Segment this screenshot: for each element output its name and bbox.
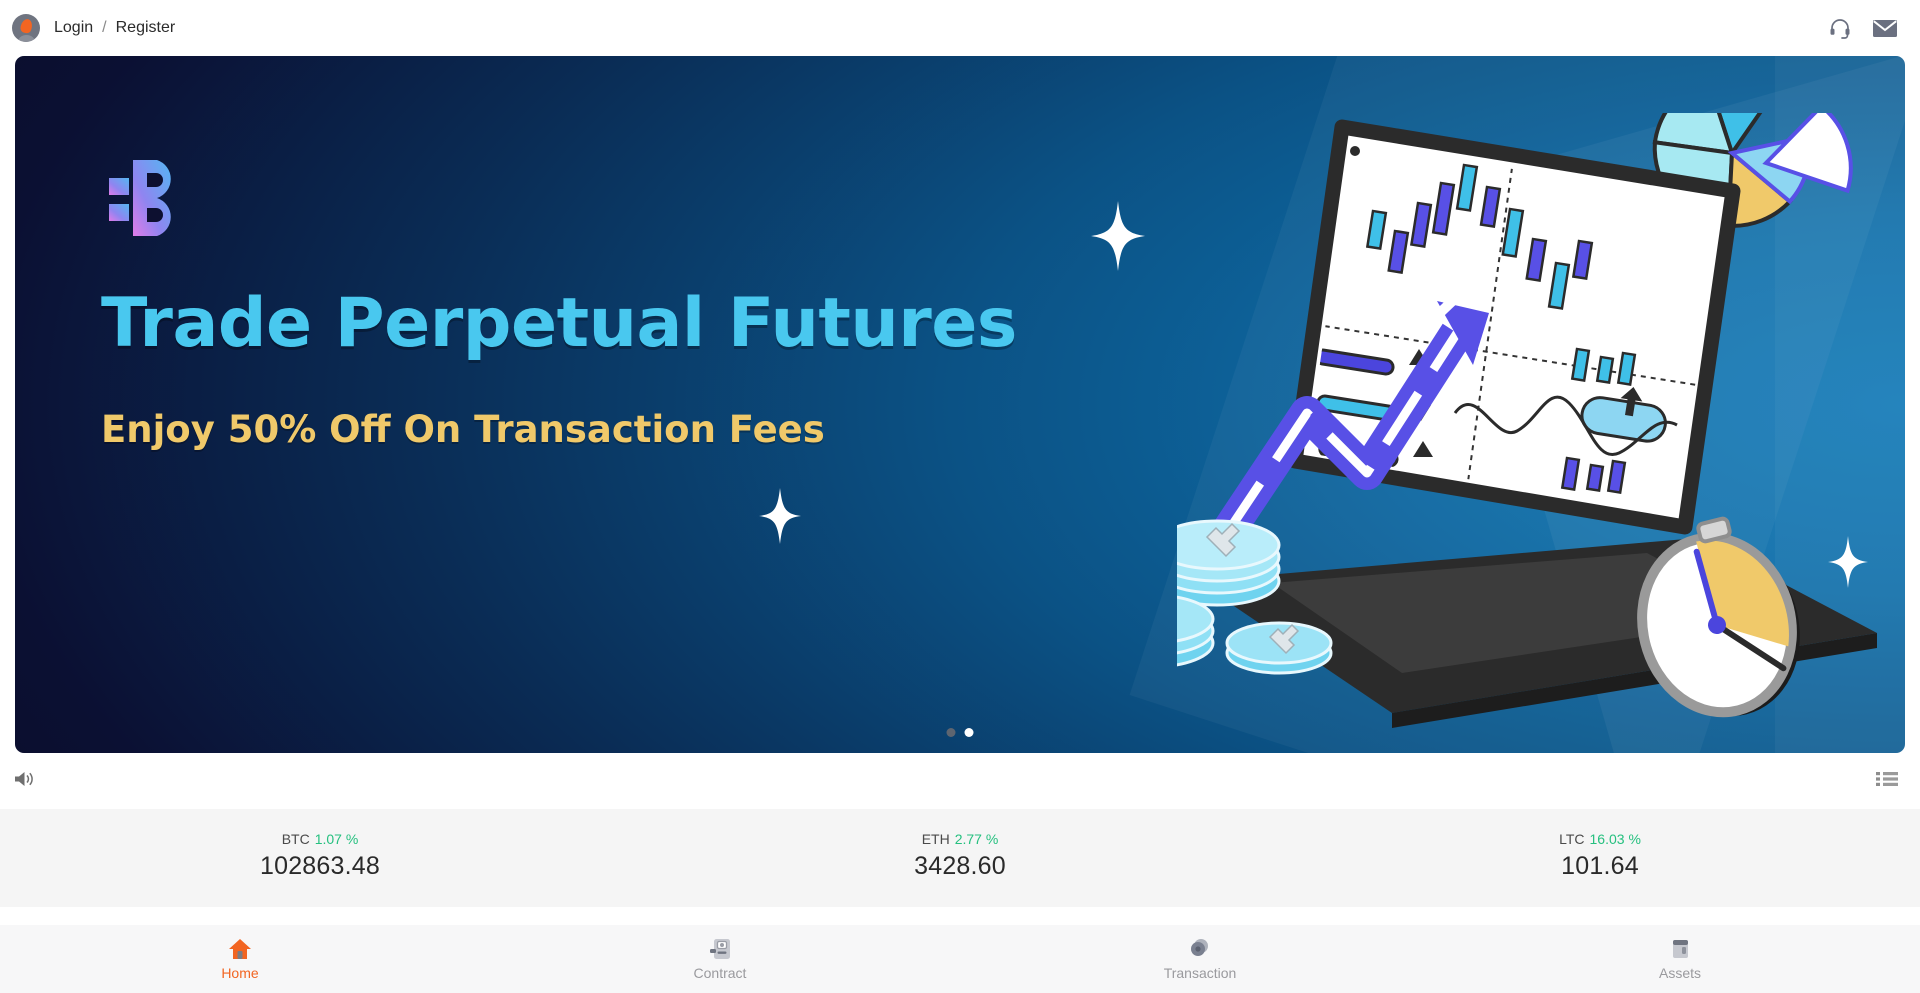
notice-bar [0, 753, 1920, 809]
speaker-icon[interactable] [14, 770, 34, 793]
nav-item-contract[interactable]: Contract [480, 938, 960, 981]
sparkle-icon [1091, 201, 1145, 276]
sparkle-icon [759, 488, 801, 549]
transaction-icon [1188, 938, 1212, 960]
ticker-symbol: LTC [1559, 831, 1584, 847]
ticker-strip: BTC1.07 % 102863.48 ETH2.77 % 3428.60 LT… [0, 809, 1920, 907]
nav-item-transaction[interactable]: Transaction [960, 938, 1440, 981]
nav-label-home: Home [221, 965, 258, 981]
carousel-dots[interactable] [947, 728, 974, 737]
bottom-navigation: Home Contract Transaction [0, 925, 1920, 993]
home-icon [228, 938, 252, 960]
brand-b-logo-icon [103, 156, 189, 240]
assets-icon [1668, 938, 1692, 960]
ticker-symbol: BTC [282, 831, 310, 847]
banner-subheadline: Enjoy 50% Off On Transaction Fees [101, 408, 825, 451]
ticker-change: 1.07 % [315, 831, 359, 847]
headset-icon[interactable] [1828, 16, 1852, 40]
carousel-dot-2[interactable] [965, 728, 974, 737]
contract-icon [708, 938, 732, 960]
banner-illustration [1177, 113, 1897, 753]
topbar-icons [1828, 16, 1898, 40]
nav-label-contract: Contract [694, 965, 747, 981]
auth-separator: / [102, 19, 106, 37]
banner-carousel[interactable]: Trade Perpetual Futures Enjoy 50% Off On… [0, 56, 1920, 753]
ticker-item[interactable]: ETH2.77 % 3428.60 [640, 831, 1280, 881]
ticker-price: 101.64 [1280, 852, 1920, 881]
ticker-head: ETH2.77 % [640, 831, 1280, 847]
nav-label-transaction: Transaction [1164, 965, 1237, 981]
list-icon[interactable] [1876, 771, 1898, 792]
ticker-item[interactable]: BTC1.07 % 102863.48 [0, 831, 640, 881]
nav-item-home[interactable]: Home [0, 938, 480, 981]
envelope-icon[interactable] [1872, 17, 1898, 39]
nav-label-assets: Assets [1659, 965, 1701, 981]
ticker-price: 102863.48 [0, 852, 640, 881]
ticker-change: 2.77 % [955, 831, 999, 847]
ticker-change: 16.03 % [1590, 831, 1641, 847]
banner-slide[interactable]: Trade Perpetual Futures Enjoy 50% Off On… [15, 56, 1905, 753]
ticker-price: 3428.60 [640, 852, 1280, 881]
ticker-item[interactable]: LTC16.03 % 101.64 [1280, 831, 1920, 881]
auth-links: Login / Register [54, 19, 175, 37]
register-link[interactable]: Register [116, 19, 176, 37]
ticker-symbol: ETH [922, 831, 950, 847]
banner-headline: Trade Perpetual Futures [101, 284, 1017, 363]
login-link[interactable]: Login [54, 19, 93, 37]
carousel-dot-1[interactable] [947, 728, 956, 737]
top-bar: Login / Register [0, 0, 1920, 56]
ticker-head: BTC1.07 % [0, 831, 640, 847]
nav-item-assets[interactable]: Assets [1440, 938, 1920, 981]
ticker-head: LTC16.03 % [1280, 831, 1920, 847]
avatar[interactable] [12, 14, 40, 42]
